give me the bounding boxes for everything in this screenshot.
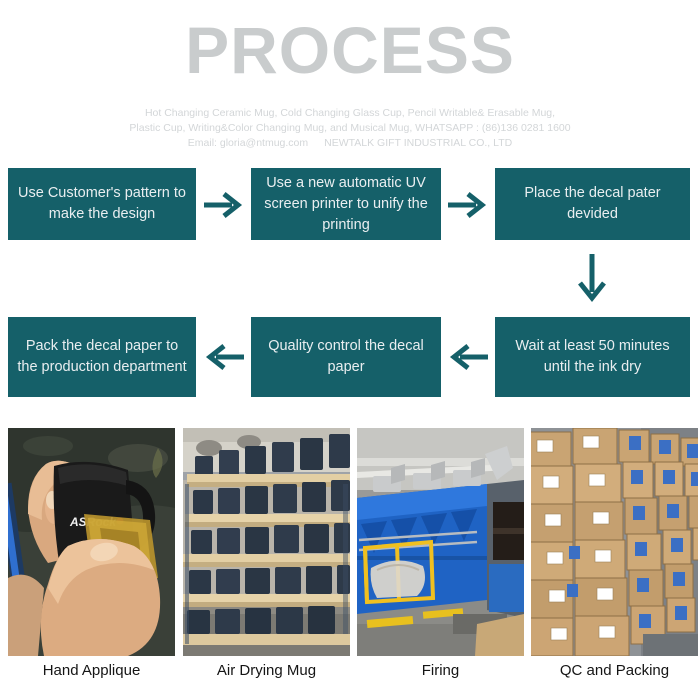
caption-firing: Firing bbox=[357, 660, 524, 682]
photo-gallery: ASRock bbox=[0, 428, 700, 656]
photo-air-drying-mug bbox=[183, 428, 350, 656]
process-step-1: Use Customer's pattern to make the desig… bbox=[8, 168, 196, 240]
arrow-left-icon bbox=[198, 340, 250, 374]
process-step-3: Place the decal pater devided bbox=[495, 168, 690, 240]
product-line-1: Hot Changing Ceramic Mug, Cold Changing … bbox=[0, 106, 700, 121]
page-title: PROCESS bbox=[0, 12, 700, 88]
product-line-2: Plastic Cup, Writing&Color Changing Mug,… bbox=[0, 121, 700, 136]
caption-qc-packing: QC and Packing bbox=[531, 660, 698, 682]
process-step-4: Wait at least 50 minutes until the ink d… bbox=[495, 317, 690, 397]
caption-air-drying-mug: Air Drying Mug bbox=[183, 660, 350, 682]
process-flow-diagram: Use Customer's pattern to make the desig… bbox=[0, 160, 700, 420]
process-step-2: Use a new automatic UV screen printer to… bbox=[251, 168, 441, 240]
photo-qc-packing bbox=[531, 428, 698, 656]
company-name: NEWTALK GIFT INDUSTRIAL CO., LTD bbox=[324, 137, 512, 149]
photo-hand-applique: ASRock bbox=[8, 428, 175, 656]
caption-hand-applique: Hand Applique bbox=[8, 660, 175, 682]
arrow-right-icon bbox=[198, 188, 250, 222]
contact-line: Email: gloria@ntmug.comNEWTALK GIFT INDU… bbox=[0, 136, 700, 151]
photo-firing bbox=[357, 428, 524, 656]
company-info-block: Hot Changing Ceramic Mug, Cold Changing … bbox=[0, 106, 700, 151]
process-step-5: Quality control the decal paper bbox=[251, 317, 441, 397]
arrow-left-icon bbox=[442, 340, 494, 374]
arrow-right-icon bbox=[442, 188, 494, 222]
email-text: Email: gloria@ntmug.com bbox=[188, 137, 308, 149]
arrow-down-icon bbox=[570, 248, 614, 310]
process-infographic: PROCESS Hot Changing Ceramic Mug, Cold C… bbox=[0, 0, 700, 700]
caption-row: Hand Applique Air Drying Mug Firing QC a… bbox=[0, 660, 700, 690]
process-step-6: Pack the decal paper to the production d… bbox=[8, 317, 196, 397]
